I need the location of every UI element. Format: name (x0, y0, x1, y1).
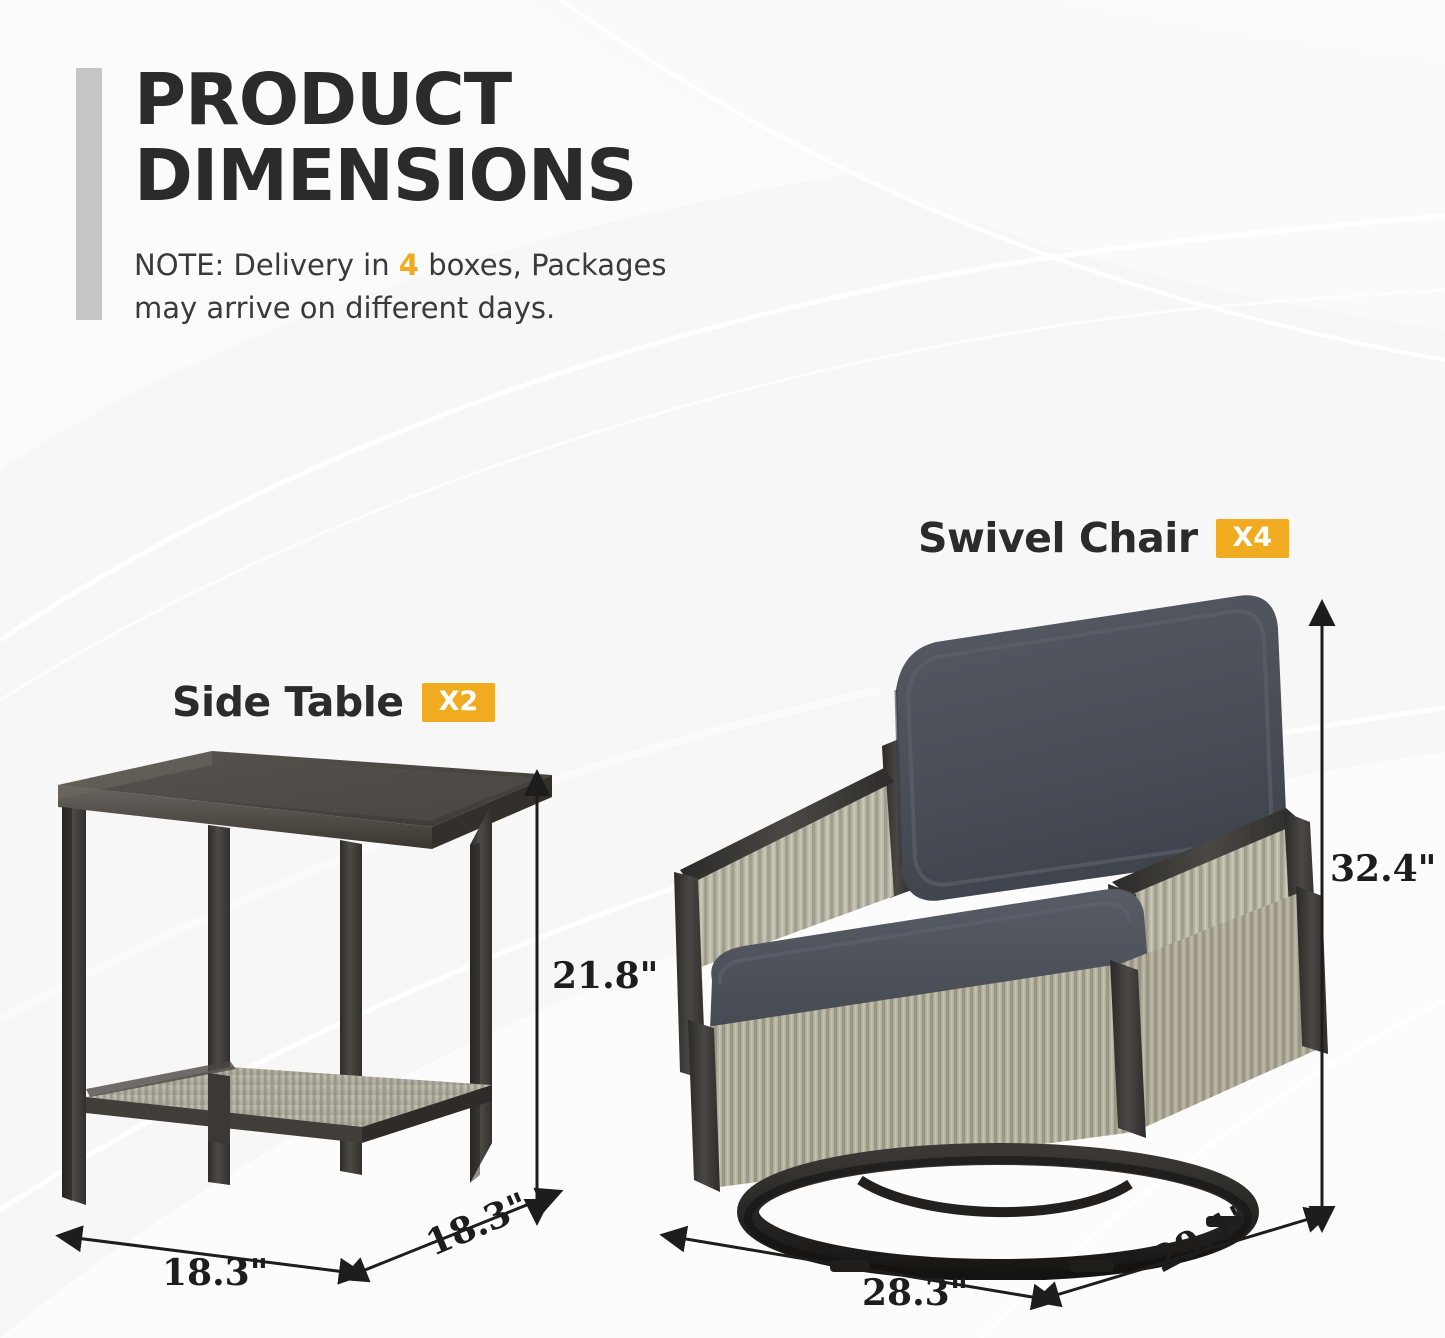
swivel-chair-depth-label: 29.1" (1146, 1194, 1260, 1281)
swivel-chair-width-label: 28.3" (862, 1272, 968, 1314)
swivel-chair-illustration (650, 560, 1330, 1280)
side-table-illustration (40, 745, 580, 1265)
side-table-depth-label: 18.3" (420, 1184, 534, 1264)
swivel-chair-name: Swivel Chair (918, 514, 1198, 562)
note-middle: boxes, Packages (419, 248, 666, 282)
accent-bar (76, 68, 102, 320)
swivel-chair-height-label: 32.4" (1330, 848, 1436, 890)
note-box-count: 4 (399, 248, 419, 282)
swivel-chair-width-arrow (680, 1238, 1038, 1298)
side-table-quantity-badge: X2 (422, 683, 496, 722)
product-label-swivel-chair: Swivel Chair X4 (918, 514, 1289, 562)
side-table-width-label: 18.3" (162, 1252, 268, 1294)
note-line-2: may arrive on different days. (134, 291, 555, 325)
swivel-chair-quantity-badge: X4 (1216, 519, 1290, 558)
title-line-2: DIMENSIONS (134, 138, 774, 214)
title-line-1: PRODUCT (134, 62, 774, 138)
product-label-side-table: Side Table X2 (172, 678, 495, 726)
product-dimensions-infographic: PRODUCT DIMENSIONS NOTE: Delivery in 4 b… (0, 0, 1445, 1338)
page-title: PRODUCT DIMENSIONS (134, 62, 774, 214)
delivery-note: NOTE: Delivery in 4 boxes, Packages may … (134, 244, 754, 330)
side-table-height-label: 21.8" (552, 955, 658, 997)
side-table-name: Side Table (172, 678, 404, 726)
note-prefix: NOTE: Delivery in (134, 248, 399, 282)
